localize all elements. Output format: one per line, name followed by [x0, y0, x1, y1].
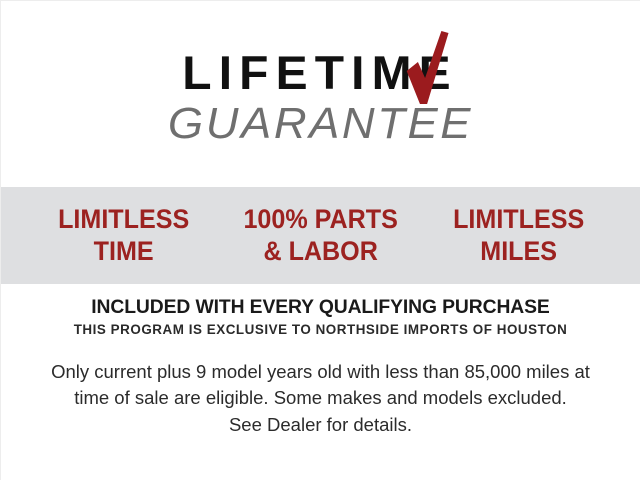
headline-included-with-purchase: INCLUDED WITH EVERY QUALIFYING PURCHASE — [4, 297, 637, 318]
subhead-program-exclusive: THIS PROGRAM IS EXCLUSIVE TO NORTHSIDE I… — [1, 323, 640, 338]
logo-word-lifetime: LIFETIME — [183, 49, 458, 96]
logo-word-guarantee: GUARANTEE — [0, 102, 640, 146]
fineprint-eligibility: Only current plus 9 model years old with… — [1, 359, 640, 438]
feature-line-1: LIMITLESS — [58, 204, 189, 234]
feature-column-limitless-time: LIMITLESS TIME — [32, 204, 216, 268]
feature-line-2: TIME — [32, 236, 216, 268]
hero-logo-lockup: LIFETIME GUARANTEE — [1, 49, 640, 146]
fineprint-line: time of sale are eligible. Some makes an… — [29, 385, 612, 411]
fineprint-line: See Dealer for details. — [29, 412, 612, 438]
feature-line-2: MILES — [427, 236, 611, 268]
logo-lifetime-text: LIFETIME — [183, 46, 458, 99]
feature-line-1: LIMITLESS — [453, 204, 584, 234]
feature-band: LIMITLESS TIME 100% PARTS & LABOR LIMITL… — [1, 187, 640, 284]
lifetime-guarantee-banner: LIFETIME GUARANTEE LIMITLESS TIME 100% P… — [0, 0, 640, 480]
disclaimer-block: INCLUDED WITH EVERY QUALIFYING PURCHASE … — [1, 297, 640, 438]
fineprint-line: Only current plus 9 model years old with… — [29, 359, 612, 385]
feature-column-parts-labor: 100% PARTS & LABOR — [229, 204, 413, 268]
feature-line-2: & LABOR — [229, 236, 413, 268]
feature-line-1: 100% PARTS — [244, 204, 398, 234]
feature-column-limitless-miles: LIMITLESS MILES — [427, 204, 611, 268]
